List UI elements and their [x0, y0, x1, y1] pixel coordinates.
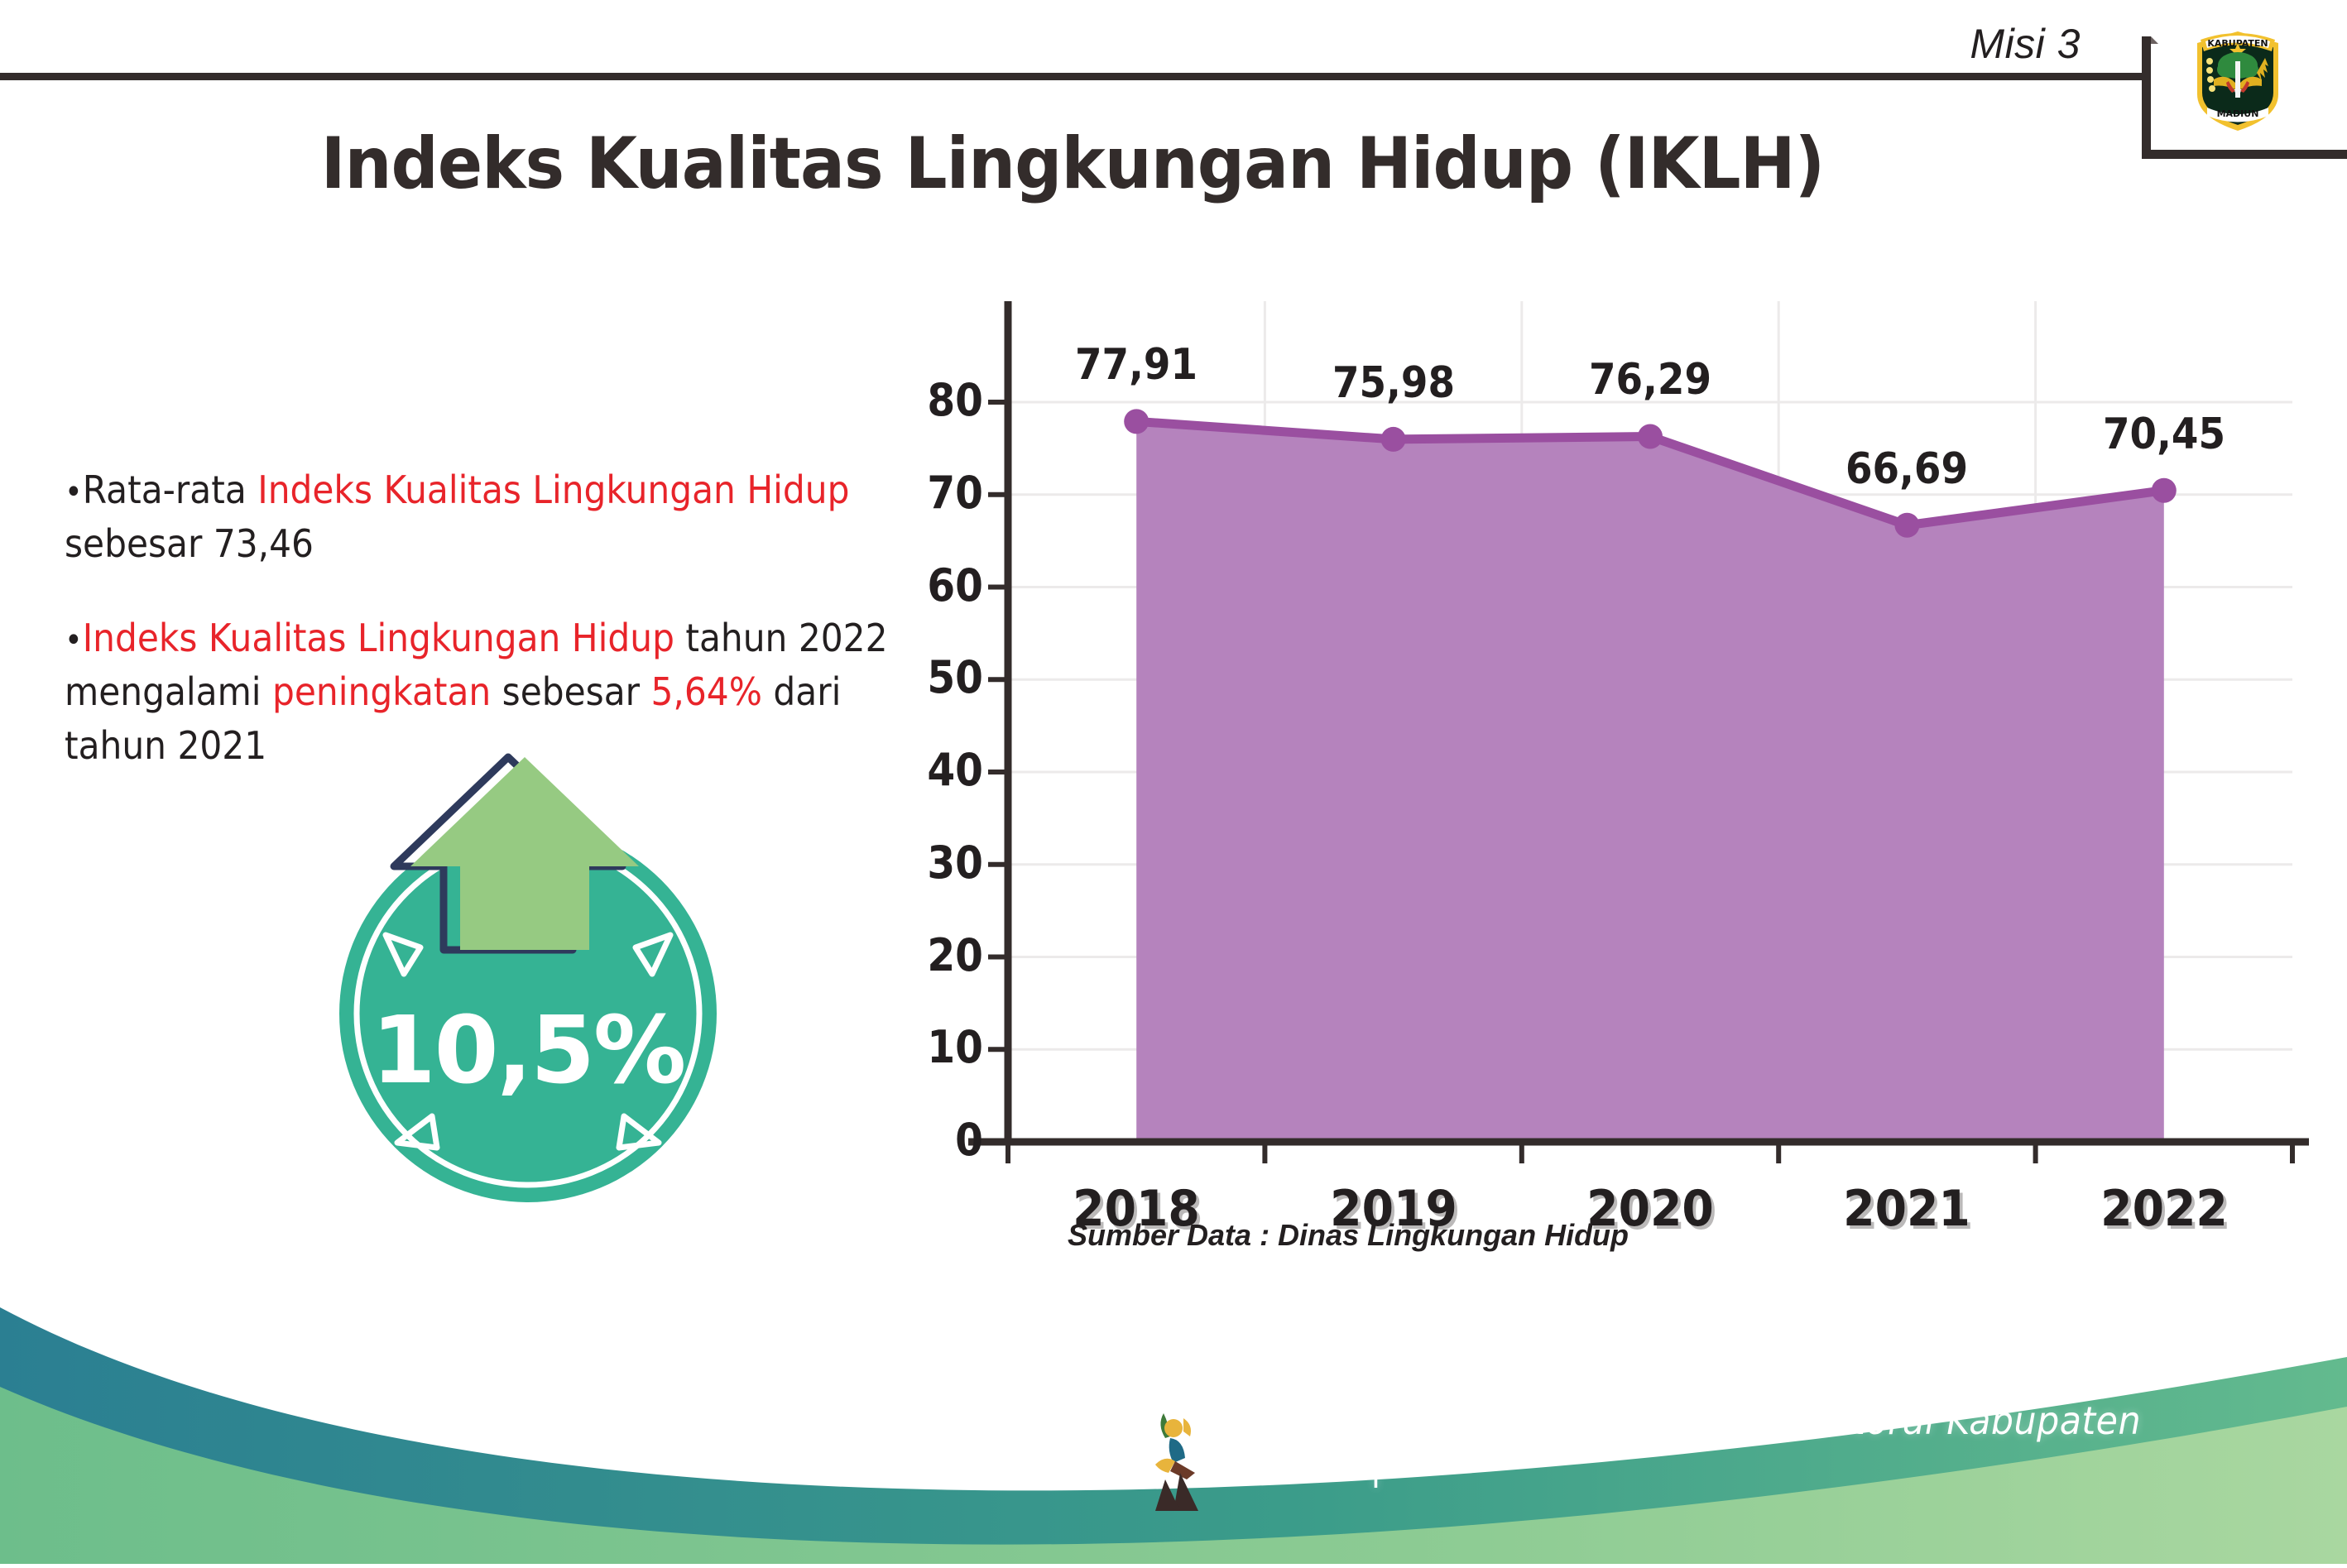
logo-bracket-horizontal [2142, 150, 2347, 159]
badge-percent-label: 10,5% [321, 997, 735, 1105]
bullet-text: sebesar 73,46 [65, 521, 314, 566]
badge-graphic [321, 749, 735, 1212]
data-point-label: 76,29 [1553, 355, 1747, 405]
media-infografis-logo-icon [1140, 1403, 1230, 1513]
footer-wave: Media Infografis Data Statistik Sektoral… [0, 1283, 2347, 1564]
footer-text: Media Infografis Data Statistik Sektoral… [1226, 1398, 2268, 1488]
bullet-highlight: Indeks Kualitas Lingkungan Hidup [83, 616, 674, 660]
bullet-text: sebesar [491, 669, 650, 714]
y-axis-tick-label: 40 [894, 744, 983, 796]
data-point-marker [1124, 409, 1149, 434]
data-point-marker [2152, 478, 2177, 503]
y-axis-tick-label: 80 [894, 374, 983, 426]
y-axis-tick-label: 10 [894, 1021, 983, 1073]
data-point-marker [1894, 513, 1919, 538]
header-rule [0, 73, 2145, 80]
iklh-area-chart: 01020304050607080 20182019202020212022 7… [968, 290, 2309, 1167]
data-point-label: 70,45 [2067, 410, 2261, 459]
data-point-label: 77,91 [1039, 340, 1233, 390]
y-axis-tick-label: 20 [894, 929, 983, 981]
page-title: Indeks Kualitas Lingkungan Hidup (IKLH) [75, 122, 2071, 205]
logo-bracket-vertical [2142, 36, 2151, 159]
area-fill [1136, 421, 2164, 1142]
bullet-text: Rata-rata [83, 468, 258, 512]
y-axis-tick-label: 30 [894, 837, 983, 889]
y-axis-tick-label: 70 [894, 467, 983, 519]
y-axis-tick-label: 0 [894, 1114, 983, 1166]
bullet-highlight: peningkatan [272, 669, 491, 714]
x-axis-tick-label: 2021 [1816, 1180, 1999, 1238]
data-point-label: 66,69 [1810, 444, 2004, 494]
bullet-marker: • [65, 473, 83, 511]
data-point-marker [1638, 424, 1663, 448]
data-point-label: 75,98 [1297, 358, 1490, 408]
bullet-marker: • [65, 621, 83, 659]
bullet-highlight: Indeks Kualitas Lingkungan Hidup [257, 468, 849, 512]
x-axis-tick-label: 2022 [2072, 1180, 2255, 1238]
increase-badge: 10,5% [321, 749, 735, 1212]
y-axis-tick-label: 50 [894, 651, 983, 703]
kabupaten-madiun-emblem-icon: KABUPATEN MADIUN [2189, 18, 2287, 134]
bullet-highlight: 5,64% [651, 669, 762, 714]
y-axis-tick-label: 60 [894, 559, 983, 611]
misi-label: Misi 3 [1970, 20, 2081, 68]
source-note: Sumber Data : Dinas Lingkungan Hidup [1068, 1218, 1629, 1253]
list-item: •Rata-rata Indeks Kualitas Lingkungan Hi… [65, 463, 910, 572]
data-point-marker [1381, 427, 1406, 452]
svg-text:MADIUN: MADIUN [2217, 108, 2259, 119]
